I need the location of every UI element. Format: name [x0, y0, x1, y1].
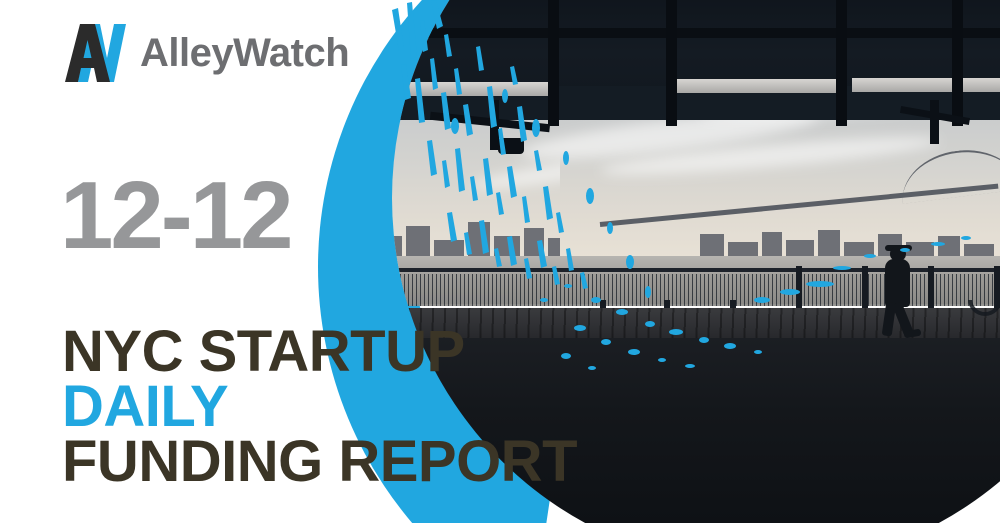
- headline-block: NYC STARTUP DAILY FUNDING REPORT: [62, 324, 577, 489]
- alleywatch-logo[interactable]: AlleyWatch: [62, 22, 349, 84]
- headline-line-2: DAILY: [62, 379, 577, 434]
- overpass-fitting: [498, 138, 524, 154]
- headline-line-1: NYC STARTUP: [62, 324, 577, 379]
- bridge-scene-corner: [560, 0, 1000, 300]
- alleywatch-funding-report-graphic: AlleyWatch 12-12 NYC STARTUP DAILY FUNDI…: [0, 0, 1000, 523]
- alleywatch-wordmark: AlleyWatch: [140, 33, 349, 73]
- date-label: 12-12: [60, 168, 291, 264]
- aw-monogram-icon: [62, 22, 136, 84]
- photo-corner-bleed: [560, 0, 1000, 300]
- headline-line-3: FUNDING REPORT: [62, 434, 577, 489]
